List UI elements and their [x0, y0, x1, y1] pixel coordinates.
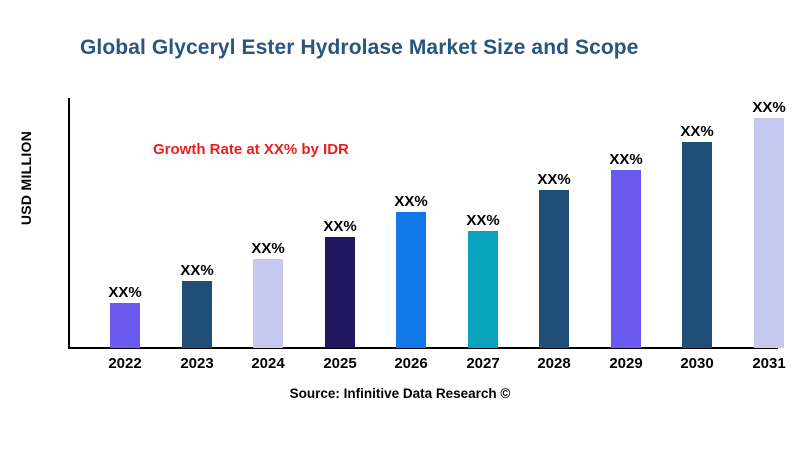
- bar-value-label: XX%: [466, 212, 499, 229]
- bar-value-label: XX%: [180, 262, 213, 279]
- x-tick-2023: 2023: [162, 355, 232, 372]
- bar-value-label: XX%: [323, 218, 356, 235]
- y-axis-label: USD MILLION: [18, 108, 34, 248]
- bar-2029[interactable]: [611, 170, 641, 348]
- chart-title: Global Glyceryl Ester Hydrolase Market S…: [80, 36, 639, 60]
- x-tick-2028: 2028: [519, 355, 589, 372]
- bar-2024[interactable]: [253, 259, 283, 348]
- bar-value-label: XX%: [752, 99, 785, 116]
- bar-2030[interactable]: [682, 142, 712, 348]
- bar-value-label: XX%: [537, 171, 570, 188]
- x-tick-2030: 2030: [662, 355, 732, 372]
- bar-2026[interactable]: [396, 212, 426, 348]
- bar-value-label: XX%: [680, 123, 713, 140]
- x-tick-2031: 2031: [734, 355, 800, 372]
- source-note: Source: Infinitive Data Research ©: [0, 386, 800, 401]
- bar-2028[interactable]: [539, 190, 569, 348]
- x-tick-2024: 2024: [233, 355, 303, 372]
- bar-value-label: XX%: [108, 284, 141, 301]
- plot-area: XX% XX% XX% XX% XX% XX% XX% XX%: [68, 98, 793, 348]
- bar-value-label: XX%: [394, 193, 427, 210]
- bar-2031[interactable]: [754, 118, 784, 348]
- bar-value-label: XX%: [609, 151, 642, 168]
- bar-2022[interactable]: [110, 303, 140, 348]
- x-tick-2025: 2025: [305, 355, 375, 372]
- x-tick-2026: 2026: [376, 355, 446, 372]
- bar-2025[interactable]: [325, 237, 355, 348]
- bar-2027[interactable]: [468, 231, 498, 348]
- x-tick-2022: 2022: [90, 355, 160, 372]
- x-tick-2027: 2027: [448, 355, 518, 372]
- chart-container: Global Glyceryl Ester Hydrolase Market S…: [0, 0, 800, 450]
- x-tick-2029: 2029: [591, 355, 661, 372]
- bar-2023[interactable]: [182, 281, 212, 348]
- bar-value-label: XX%: [251, 240, 284, 257]
